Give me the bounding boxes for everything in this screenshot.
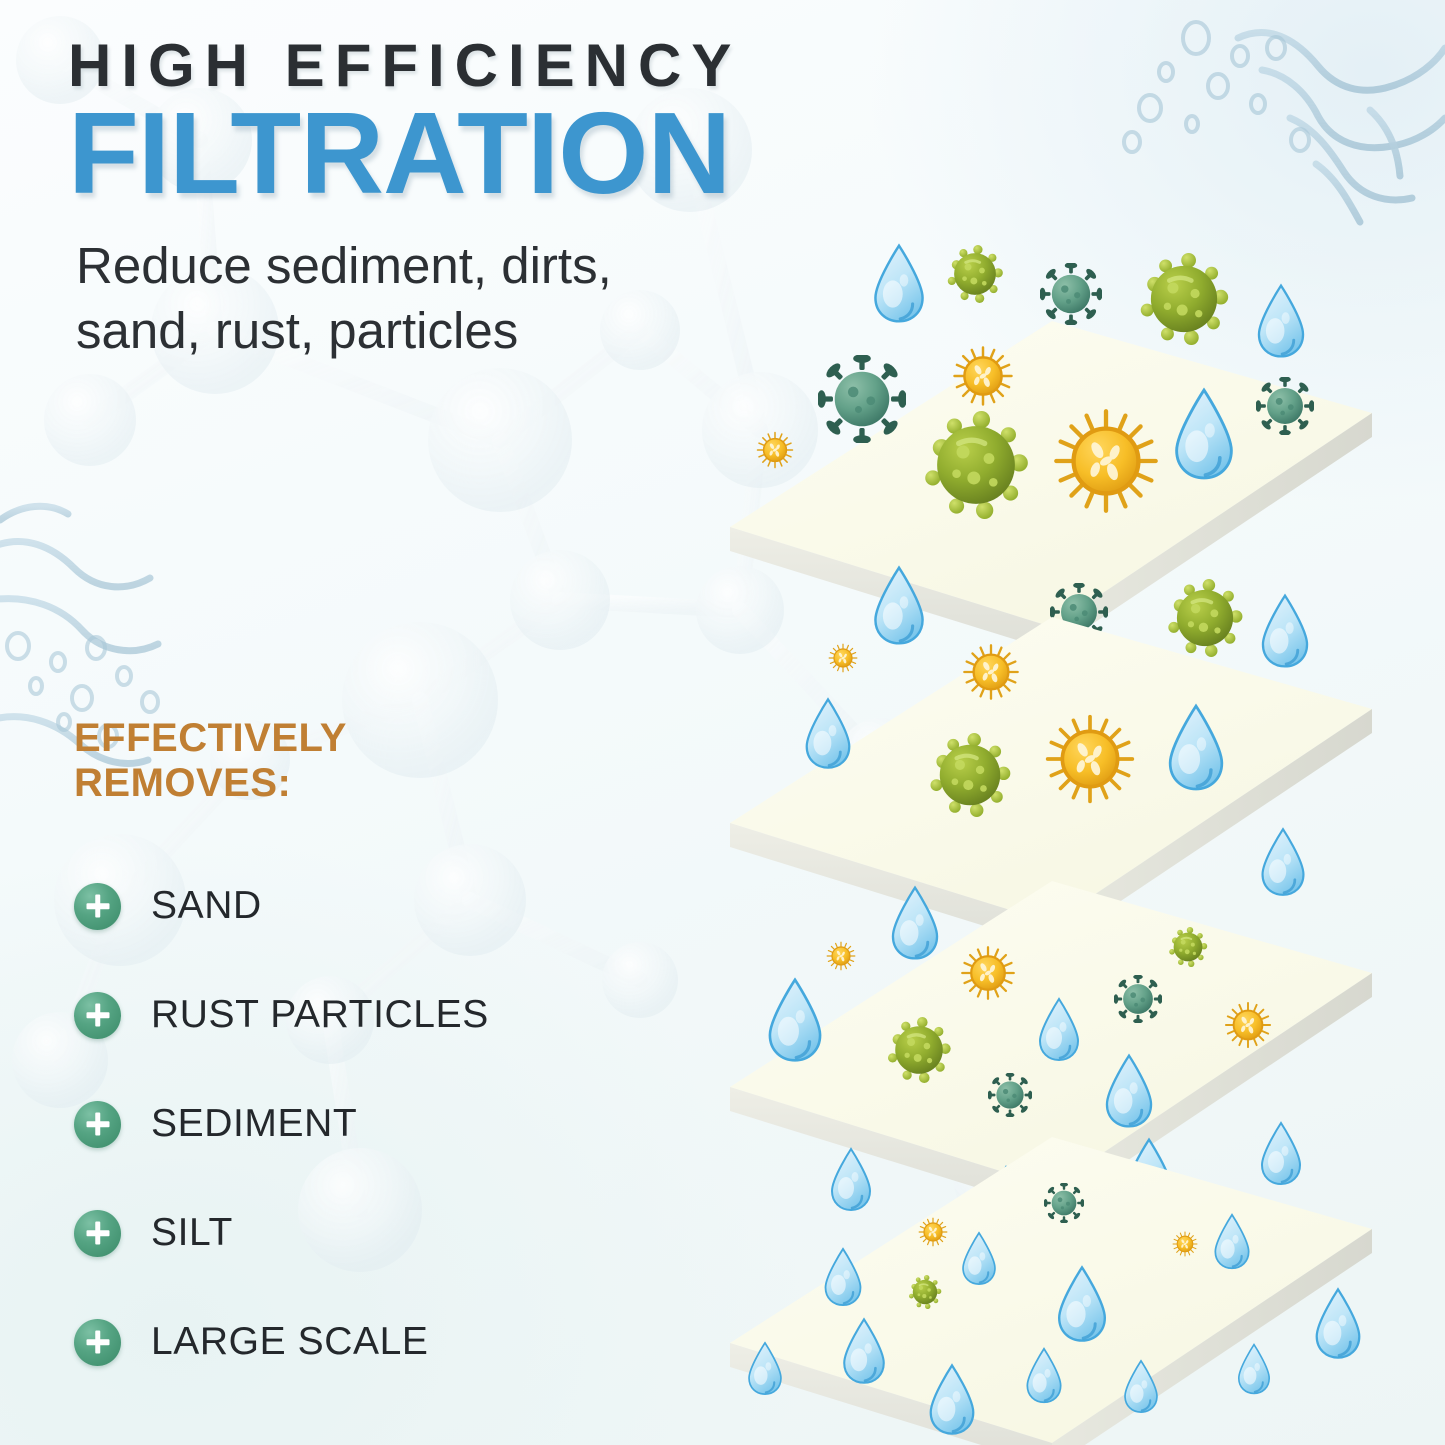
list-item: LARGE SCALE	[74, 1288, 694, 1397]
teal-virus	[817, 354, 907, 444]
yellow-pollen	[827, 942, 855, 970]
water-droplet	[1263, 829, 1304, 895]
plus-icon	[74, 1210, 121, 1257]
olive-germ	[1141, 253, 1228, 345]
water-droplet	[1262, 1123, 1300, 1184]
teal-virus	[1039, 262, 1102, 325]
olive-germ	[1168, 579, 1242, 657]
yellow-pollen	[758, 433, 793, 468]
filtration-stack-illustration	[700, 235, 1445, 1445]
olive-germ	[948, 245, 1003, 303]
list-item: SEDIMENT	[74, 1070, 694, 1179]
removes-heading: EFFECTIVELY REMOVES:	[74, 716, 694, 806]
list-item-label: LARGE SCALE	[151, 1320, 429, 1364]
headline-line-2: FILTRATION	[68, 100, 768, 207]
list-item: SILT	[74, 1179, 694, 1288]
yellow-pollen	[1173, 1232, 1197, 1256]
infographic-page: HIGH EFFICIENCY FILTRATION Reduce sedime…	[0, 0, 1445, 1445]
teal-virus	[1114, 975, 1163, 1024]
removes-heading-line-2: REMOVES:	[74, 761, 694, 806]
effectively-removes-section: EFFECTIVELY REMOVES: SAND RUST PARTICLES…	[74, 716, 694, 1397]
yellow-pollen	[962, 947, 1014, 999]
yellow-pollen	[919, 1218, 947, 1246]
list-item-label: SEDIMENT	[151, 1102, 357, 1146]
plus-icon	[74, 1101, 121, 1148]
teal-virus	[1255, 376, 1314, 435]
headline-block: HIGH EFFICIENCY FILTRATION Reduce sedime…	[68, 36, 768, 363]
water-droplet	[1263, 596, 1307, 667]
headline-line-1: HIGH EFFICIENCY	[68, 36, 768, 96]
yellow-pollen	[954, 347, 1011, 404]
splash-bubbles-top-right	[1124, 22, 1309, 152]
filter-layer-1	[730, 245, 1372, 651]
water-droplet	[826, 1249, 861, 1305]
yellow-pollen	[829, 644, 857, 672]
water-droplet	[770, 980, 820, 1061]
removes-heading-line-1: EFFECTIVELY	[74, 716, 694, 761]
water-splash-top-right-icon	[1238, 33, 1445, 222]
removes-list: SAND RUST PARTICLES SEDIMENT SILT LARGE …	[74, 852, 694, 1397]
list-item: RUST PARTICLES	[74, 961, 694, 1070]
filter-slab	[730, 321, 1372, 651]
yellow-pollen	[1056, 411, 1155, 510]
water-droplet	[1239, 1345, 1269, 1394]
yellow-pollen	[964, 645, 1017, 698]
teal-virus	[1044, 1183, 1085, 1224]
list-item-label: SAND	[151, 884, 262, 928]
list-item-label: RUST PARTICLES	[151, 993, 489, 1037]
water-droplet	[832, 1149, 870, 1210]
teal-virus	[988, 1073, 1033, 1118]
yellow-pollen	[1226, 1003, 1270, 1047]
water-droplet	[1259, 286, 1303, 357]
plus-icon	[74, 992, 121, 1039]
water-droplet	[1317, 1289, 1360, 1357]
water-droplet	[807, 699, 850, 767]
plus-icon	[74, 1319, 121, 1366]
yellow-pollen	[1048, 717, 1133, 802]
plus-icon	[74, 883, 121, 930]
water-droplet	[875, 246, 922, 322]
list-item-label: SILT	[151, 1211, 233, 1255]
list-item: SAND	[74, 852, 694, 961]
subtitle-text: Reduce sediment, dirts, sand, rust, part…	[76, 233, 636, 364]
